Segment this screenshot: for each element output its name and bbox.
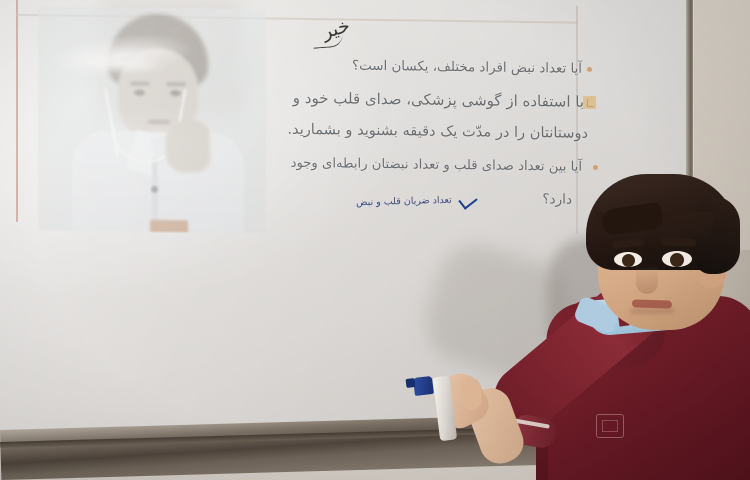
classroom-photo: آیا تعداد نبض افراد مختلف، یکسان است؟ با… [0,0,750,480]
slide-photo-boy-stethoscope [38,6,266,233]
photo-boy-mouth [148,120,170,124]
square-bullet-icon [583,96,596,109]
slide-line-2: با استفاده از گوشی پزشکی، صدای قلب خود و [293,91,584,110]
student-uniform-badge [596,414,624,438]
slide-line-4: آیا بین تعداد صدای قلب و تعداد نبضتان را… [291,157,582,174]
student-pupil-right [670,253,684,267]
student-chin-shadow [630,308,674,314]
photo-boy-name-badge [150,220,188,234]
photo-boy-eye-left [134,90,145,96]
student-pupil-left [622,254,635,267]
dot-bullet-icon-1 [587,67,592,72]
photo-boy-shirt-button [151,186,158,193]
photo-boy-eye-right [170,90,181,96]
photo-boy-hand [166,120,210,173]
student-nose [636,266,658,294]
marker-tip-icon [405,378,415,388]
photo-boy-brow-left [130,82,150,86]
photo-boy-brow-right [166,82,186,86]
slide-line-1: آیا تعداد نبض افراد مختلف، یکسان است؟ [352,60,582,77]
marker-cap-icon [413,376,434,396]
slide-line-3: دوستانتان را در مدّت یک دقیقه بشنوید و ب… [287,123,588,142]
slide-left-border [16,0,18,222]
student-at-whiteboard [420,178,750,480]
student-thumb [461,378,482,411]
dot-bullet-icon-2 [593,165,598,170]
